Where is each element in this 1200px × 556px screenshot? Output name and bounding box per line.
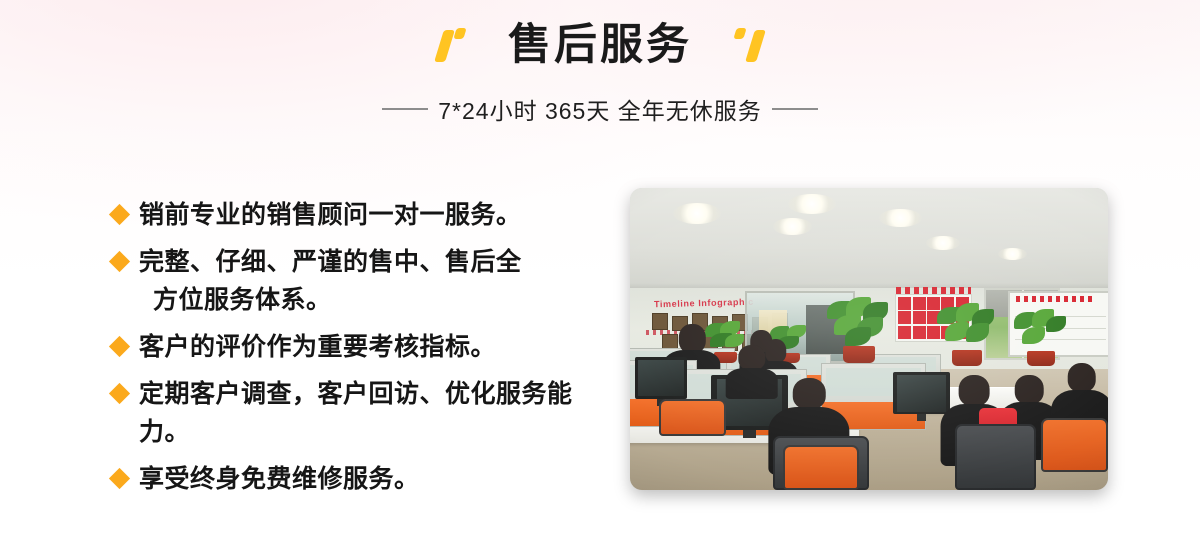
section-content: 销前专业的销售顾问一对一服务。 完整、仔细、严谨的售中、售后全 方位服务体系。 … [0,170,1200,510]
diamond-bullet-icon [109,251,130,272]
page-subtitle: 7*24小时 365天 全年无休服务 [438,92,761,126]
list-item-text: 享受终身免费维修服务。 [139,460,420,498]
photo-downlight [926,236,959,250]
list-item: 定期客户调查，客户回访、优化服务能力。 [112,375,622,451]
photo-plant [1012,309,1069,366]
diamond-bullet-icon [109,336,130,357]
yellow-slash-ornament-right-icon [726,24,770,66]
list-item: 完整、仔细、严谨的售中、售后全 方位服务体系。 [112,243,622,319]
list-item-text: 销前专业的销售顾问一对一服务。 [139,196,522,234]
diamond-bullet-icon [109,383,130,404]
title-row: 售后服务 [0,0,1200,76]
subtitle-dash-right [772,108,818,110]
photo-office-chair [783,445,859,490]
subtitle-row: 7*24小时 365天 全年无休服务 [0,92,1200,126]
diamond-bullet-icon [109,468,130,489]
list-item: 享受终身免费维修服务。 [112,460,622,498]
office-photo-image: Timeline Infographic [630,188,1108,490]
list-item-text: 客户的评价作为重要考核指标。 [139,328,496,366]
diamond-bullet-icon [109,204,130,225]
list-item: 销前专业的销售顾问一对一服务。 [112,196,622,234]
photo-downlight [673,203,721,224]
photo-office-chair [659,399,726,435]
page-title: 售后服务 [508,24,692,67]
yellow-slash-ornament-left-icon [430,24,474,66]
office-photo: Timeline Infographic [630,188,1108,490]
photo-downlight [788,194,836,214]
list-item: 客户的评价作为重要考核指标。 [112,328,622,366]
photo-plant [936,303,998,366]
photo-monitor [635,357,688,399]
photo-downlight [773,218,811,235]
section-header: 售后服务 7*24小时 365天 全年无休服务 [0,0,1200,126]
service-feature-list: 销前专业的销售顾问一对一服务。 完整、仔细、严谨的售中、售后全 方位服务体系。 … [112,196,622,507]
subtitle-dash-left [382,108,428,110]
list-item-text: 完整、仔细、严谨的售中、售后全 方位服务体系。 [139,243,522,319]
photo-downlight [879,209,922,227]
photo-office-chair [955,424,1036,490]
photo-office-chair [1041,418,1108,472]
photo-plant [826,297,893,363]
list-item-text: 定期客户调查，客户回访、优化服务能力。 [139,375,622,451]
